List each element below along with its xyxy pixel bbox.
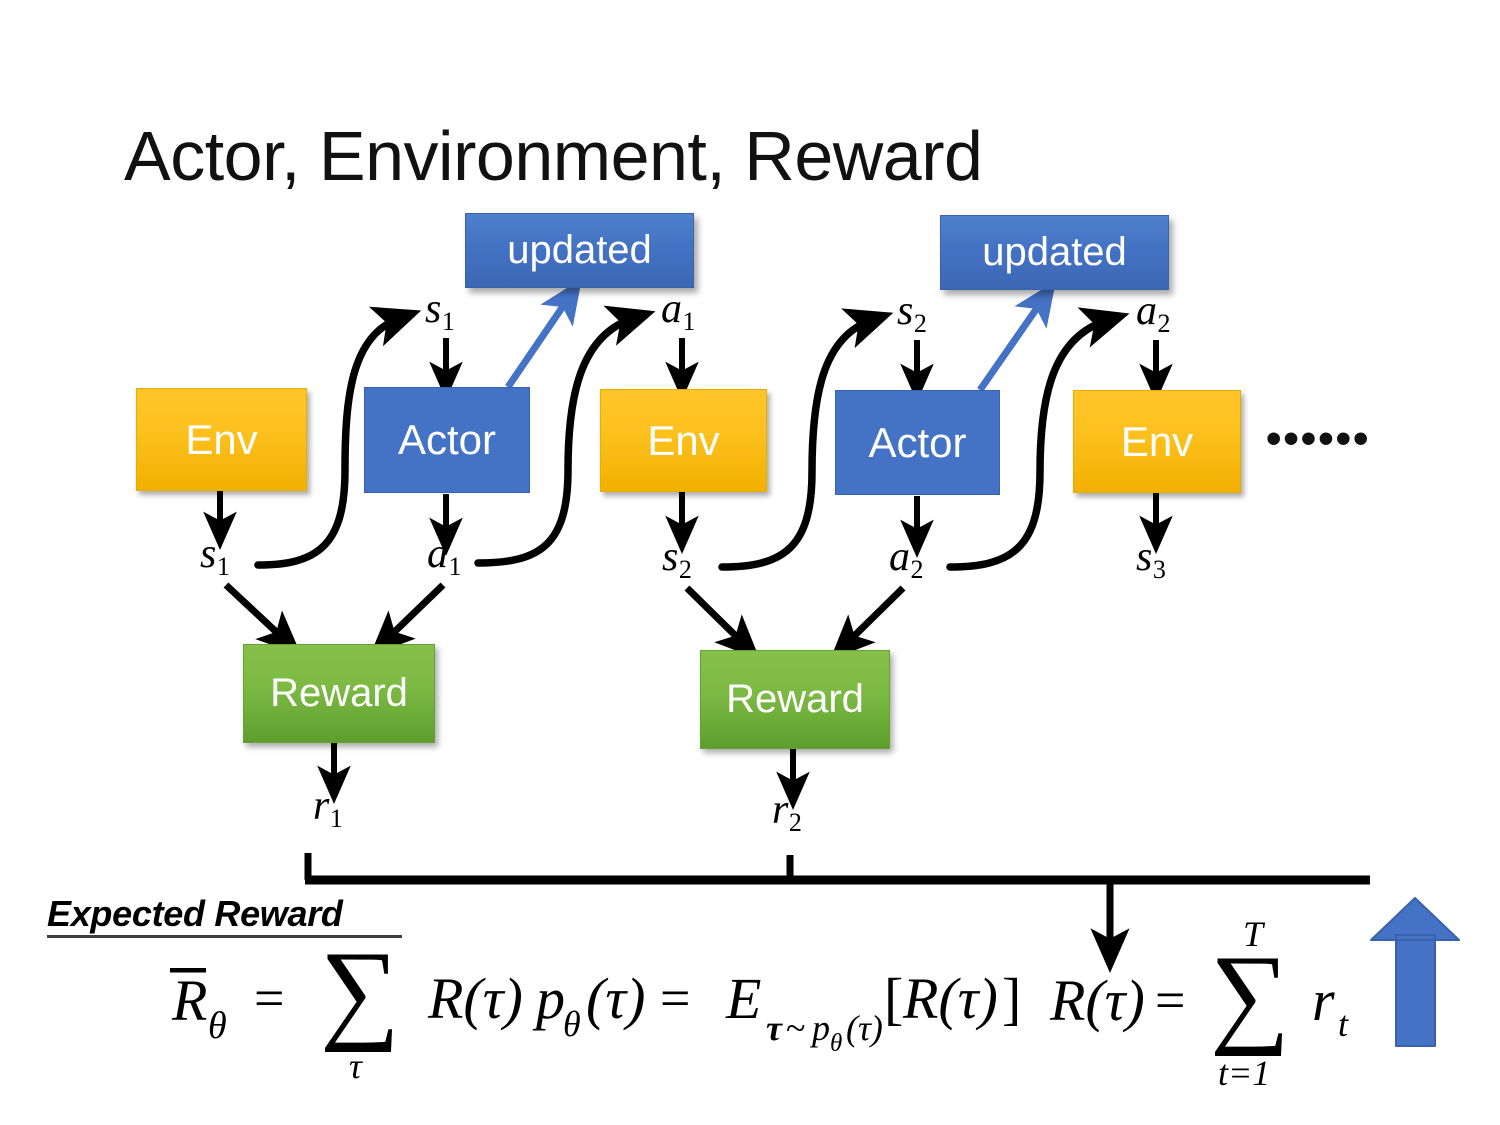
- equation-expected-reward: R θ = ∑ τ R(τ) p θ (τ) = E τ ~ p θ (τ) […: [170, 929, 1021, 1086]
- eq-total-r-subscript-t: t: [1338, 1004, 1349, 1044]
- eq-Rbar-symbol: R: [171, 968, 207, 1033]
- eq-bracket-close: ]: [1002, 966, 1021, 1031]
- maximize-up-arrow: [1371, 898, 1459, 1046]
- eq-E-symbol: E: [725, 966, 761, 1031]
- eq-sigma-1-lower-tau: τ: [349, 1046, 363, 1086]
- eq-Rbar-overline: [170, 968, 206, 973]
- eq-total-R-of-tau: R(τ): [1049, 968, 1145, 1033]
- eq-E-subscript-tau: τ: [766, 1008, 783, 1048]
- eq-equals-1: =: [254, 968, 284, 1028]
- eq-sigma-1: ∑: [320, 929, 400, 1053]
- eq-R-of-tau-1: R(τ): [427, 966, 523, 1031]
- formula-layer: R θ = ∑ τ R(τ) p θ (τ) = E τ ~ p θ (τ) […: [0, 0, 1500, 1125]
- eq-p-theta-tau-symbol: p: [532, 966, 565, 1031]
- eq-R-of-tau-2: R(τ): [902, 966, 998, 1031]
- eq-E-subscript-sim: ~: [786, 1008, 805, 1048]
- eq-p-subscript-theta: θ: [563, 1004, 581, 1044]
- eq-equals-2: =: [660, 968, 690, 1028]
- eq-E-subscript-tau-arg: (τ): [846, 1008, 883, 1048]
- eq-total-r-symbol: r: [1312, 968, 1335, 1033]
- equation-total-reward: R(τ) = ∑ T t=1 r t: [1049, 914, 1349, 1093]
- eq-total-equals: =: [1155, 970, 1185, 1030]
- eq-E-subscript-p: p: [809, 1008, 830, 1048]
- slide-canvas: Actor, Environment, Reward: [0, 0, 1500, 1125]
- eq-Rbar-subscript-theta: θ: [208, 1005, 227, 1047]
- eq-p-arg-tau: (τ): [586, 966, 645, 1031]
- eq-E-subscript-theta: θ: [830, 1030, 842, 1057]
- eq-total-sum-upper: T: [1243, 914, 1266, 954]
- eq-bracket-open: [: [884, 966, 903, 1031]
- eq-total-sum-lower: t=1: [1218, 1053, 1270, 1093]
